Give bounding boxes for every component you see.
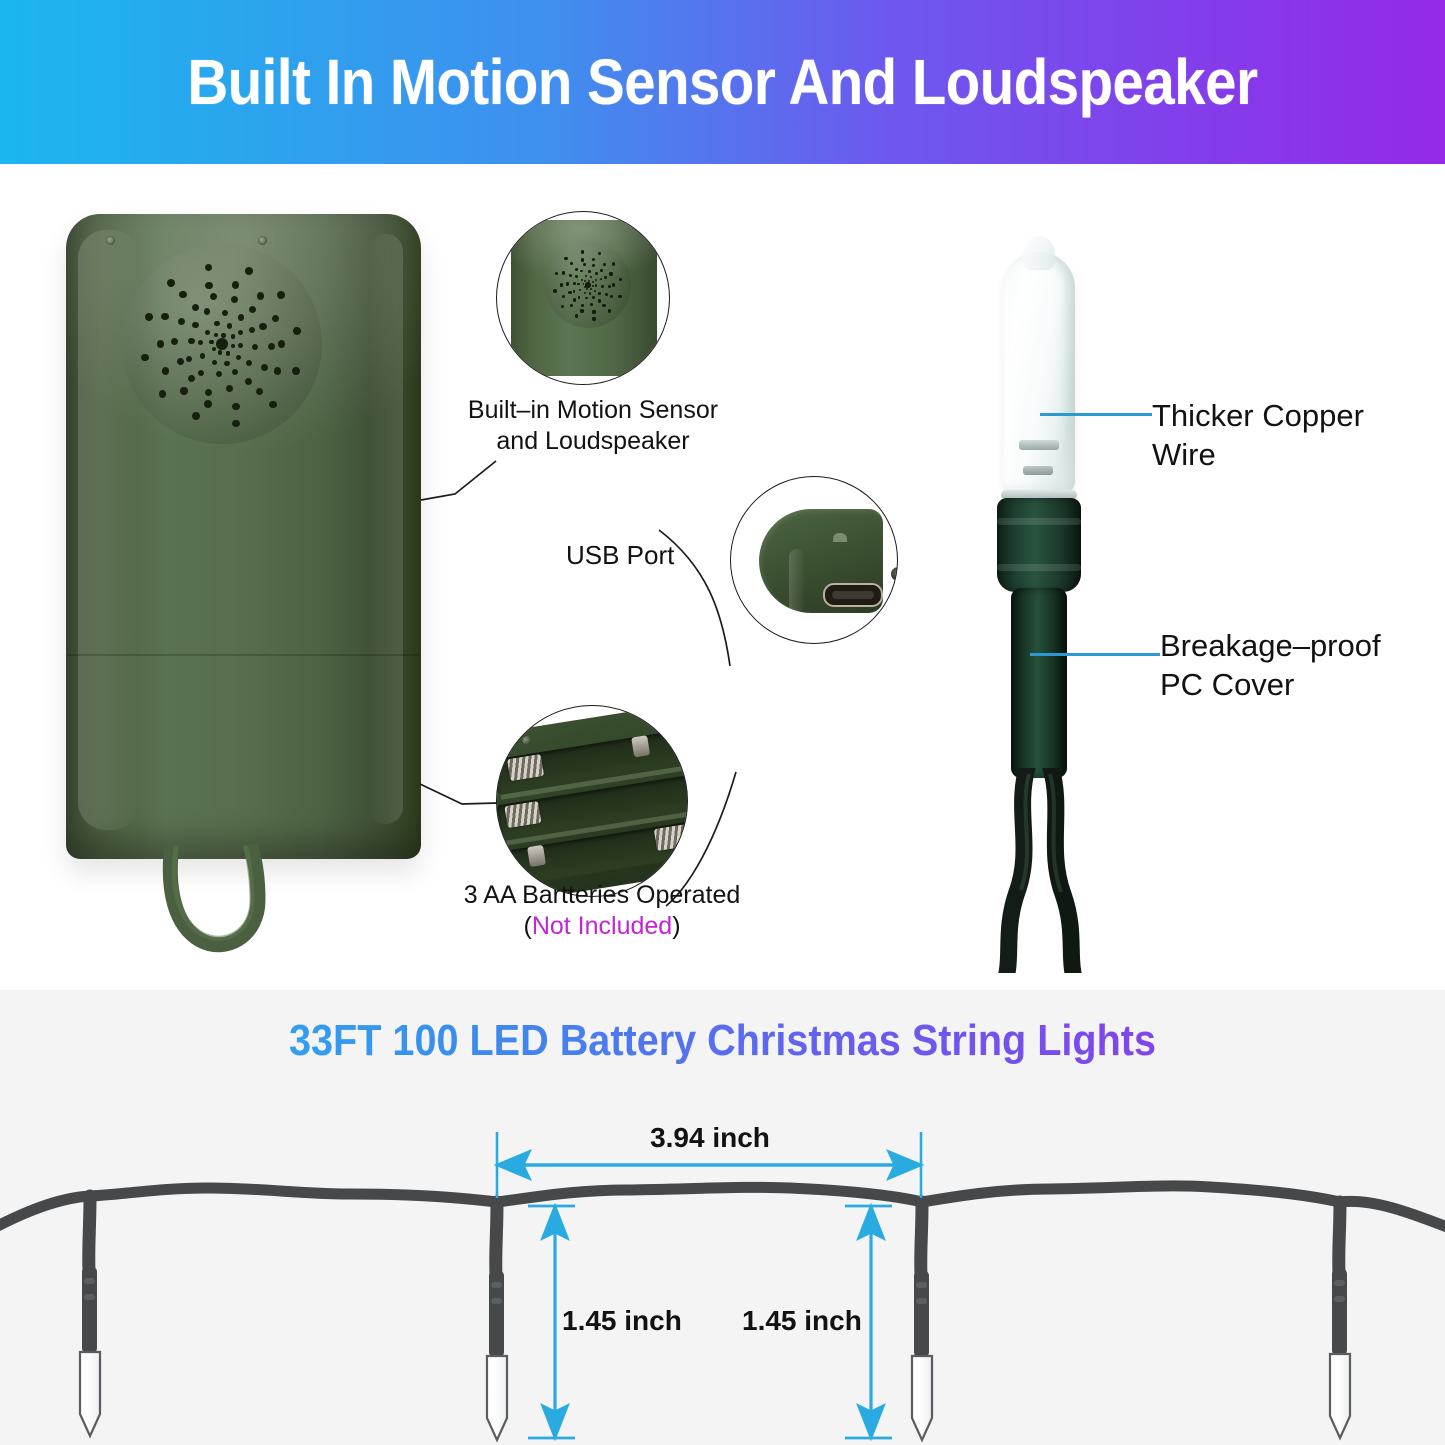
pc-cover-line2: PC Cover [1160,665,1445,704]
grille-hole [570,304,573,307]
grille-hole [238,314,244,320]
grille-hole [245,267,253,275]
grille-hole [177,358,184,365]
grille-hole [238,343,243,348]
speaker-zoom-image [511,220,657,376]
grille-hole [269,401,277,409]
copper-wire-filament [1023,466,1053,475]
battery-pack-body [66,214,421,859]
grille-hole [566,282,569,285]
grille-hole [188,338,194,344]
grille-hole [210,293,217,300]
grille-hole [205,264,213,272]
zoom-bubble-speaker [496,211,670,385]
grille-hole [171,338,178,345]
grille-hole [249,306,256,313]
case-seam [68,654,419,656]
grille-hole [600,269,603,272]
callout-label-copper-wire: Thicker Copper Wire [1152,396,1445,474]
grille-hole [592,285,594,287]
grille-hole [598,252,601,255]
pc-bulb-cover [1003,252,1075,492]
grille-hole [598,299,601,302]
grille-hole [573,282,576,285]
grille-hole [584,286,586,288]
grille-hole [618,295,621,298]
motion-label-line1: Built–in Motion Sensor [428,395,758,426]
grille-hole [581,279,583,281]
grille-hole [178,318,185,325]
callout-label-usb-port: USB Port [566,540,696,572]
grille-hole [595,279,597,281]
grille-hole [619,278,622,281]
copper-wire-line2: Wire [1152,435,1445,474]
paren-close: ) [672,912,680,940]
battery-contact [631,735,650,757]
grille-hole [259,323,266,330]
screw-right [258,236,267,245]
grille-hole [553,289,556,292]
grille-hole [612,283,615,286]
callout-label-motion-sensor: Built–in Motion Sensor and Loudspeaker [428,395,758,456]
grille-hole [585,282,591,288]
battery-label-line1: 3 AA Bartteries Operated [402,880,802,911]
socket-rib [997,564,1081,571]
grille-hole [214,333,218,337]
battery-pack-device [66,214,421,859]
grille-hole [179,291,187,299]
zoom-bubble-usb [730,476,898,644]
grille-hole [605,293,608,296]
grille-hole [186,356,192,362]
grille-hole [592,310,595,313]
highlight-right [369,234,403,824]
grille-hole [573,290,576,293]
dimension-label-drop-right: 1.45 inch [742,1305,862,1337]
battery-spring [654,824,688,851]
grille-hole [274,367,282,375]
grille-hole [277,291,285,299]
grille-hole [592,264,595,267]
grille-hole [268,343,275,350]
grille-hole [568,291,571,294]
grille-hole [610,295,613,298]
grille-hole [192,322,198,328]
grille-hole [261,364,268,371]
grille-hole [204,308,210,314]
grille-hole [227,323,232,328]
grille-hole [584,292,586,294]
led-bulb-closeup [975,232,1095,972]
grille-hole [162,367,170,375]
grille-hole [562,271,565,274]
grille-hole [222,310,228,316]
case-lip [789,549,805,635]
grille-hole [564,257,567,260]
grille-hole [598,292,601,295]
grille-hole [579,289,581,291]
battery-compartment-image [496,705,688,897]
grille-hole [586,288,588,290]
grille-hole [592,317,595,320]
banner-title: Built In Motion Sensor And Loudspeaker [87,0,1359,164]
grille-hole [204,400,212,408]
grille-hole [226,351,230,355]
grille-hole [293,327,301,335]
grille-hole [232,403,240,411]
grille-hole [590,276,592,278]
indicator-led [891,567,898,581]
grille-hole [561,305,564,308]
grille-hole [232,281,240,289]
not-included-highlight: Not Included [532,912,672,940]
grille-hole [216,371,222,377]
grille-hole [180,387,188,395]
leader-line-pc-cover [1030,653,1160,656]
motion-label-line2: and Loudspeaker [428,426,758,457]
socket-stem [1011,588,1067,778]
callout-label-pc-cover: Breakage–proof PC Cover [1160,626,1445,704]
grille-hole [232,369,238,375]
grille-hole [272,315,280,323]
grille-hole [589,292,591,294]
grille-hole [256,388,264,396]
grille-hole [612,262,615,265]
grille-hole [581,258,584,261]
grille-hole [580,309,583,312]
grille-hole [581,250,584,253]
grille-hole [562,295,565,298]
grille-hole [212,347,216,351]
twin-lead-wire [997,768,1083,973]
dimension-label-drop-left: 1.45 inch [562,1305,682,1337]
grille-hole [588,270,591,273]
grille-hole [249,327,255,333]
grille-hole [560,283,563,286]
grille-hole [585,275,587,277]
grille-hole [205,282,213,290]
zoom-bubble-battery [496,705,688,897]
usb-c-port-icon [823,583,883,607]
leader-line-copper-wire [1040,413,1152,416]
grille-hole [209,340,213,344]
grille-hole [161,313,169,321]
grille-hole [198,370,204,376]
grille-hole [232,420,240,428]
grille-hole [580,270,583,273]
grille-hole [236,355,241,360]
grille-hole [575,275,578,278]
grille-hole [205,389,212,396]
grille-hole [608,285,611,288]
grille-hole [221,333,225,337]
hanging-hook [154,844,274,954]
grille-hole [603,263,606,266]
grille-hole [192,412,200,420]
battery-contact [527,845,546,867]
grille-hole [167,279,175,287]
grille-hole [245,378,252,385]
grille-hole [592,258,595,261]
grille-hole [590,303,593,306]
socket-rib [997,518,1081,525]
grille-hole [278,340,286,348]
grille-hole [238,330,243,335]
grille-hole [595,272,598,275]
copper-wire-line1: Thicker Copper [1152,396,1445,435]
grille-hole [224,361,229,366]
grille-hole [595,284,597,286]
grille-hole [573,298,576,301]
header-banner: Built In Motion Sensor And Loudspeaker [0,0,1445,164]
grille-hole [592,296,595,299]
callout-label-batteries: 3 AA Bartteries Operated (Not Included) [402,880,802,941]
grille-hole [575,268,578,271]
grille-hole [214,321,219,326]
grille-hole [590,288,592,290]
paren-open: ( [523,912,531,940]
grille-hole [226,385,233,392]
copper-wire-filament [1019,440,1059,450]
grille-hole [602,304,605,307]
grille-hole [585,297,588,300]
case-nub [833,533,847,542]
grille-hole [159,390,167,398]
grille-hole [601,285,604,288]
grille-hole [575,314,578,317]
grille-hole [231,296,238,303]
grille-hole [157,340,165,348]
battery-label-line2: (Not Included) [402,911,802,942]
grille-hole [231,344,235,348]
grille-hole [252,344,258,350]
screw-hole [522,735,532,745]
product-infographic: Built In Motion Sensor And Loudspeaker [0,0,1445,1445]
grille-hole [192,304,199,311]
grille-hole [141,354,149,362]
grille-hole [218,350,222,354]
usb-end-image [759,509,883,613]
pc-cover-line1: Breakage–proof [1160,626,1445,665]
grille-hole [198,340,203,345]
grille-hole [570,262,573,265]
grille-hole [292,367,300,375]
grille-hole [569,274,572,277]
usb-label-line1: USB Port [566,540,696,572]
dimension-label-spacing: 3.94 inch [560,1122,860,1154]
bulb-socket [997,498,1081,592]
grille-hole [188,375,195,382]
grille-hole [246,360,252,366]
grille-hole [212,360,217,365]
grille-hole [145,313,153,321]
grille-hole [592,281,594,283]
string-light-diagram [0,990,1445,1445]
grille-hole [604,276,607,279]
grille-hole [594,290,596,292]
grille-hole [600,278,603,281]
grille-hole [555,272,558,275]
grille-hole [231,334,235,338]
grille-zoom-circle [545,242,631,328]
grille-hole [581,304,584,307]
grille-hole [216,338,228,350]
grille-hole [205,330,210,335]
bulb-tip [1023,236,1055,270]
grille-hole [608,309,611,312]
screw-left [106,236,115,245]
grille-hole [577,283,579,285]
speaker-grille-icon [122,244,322,444]
grille-hole [200,353,205,358]
grille-hole [583,283,585,285]
grille-hole [583,263,586,266]
grille-hole [257,292,265,300]
grille-hole [578,296,581,299]
grille-hole [609,272,612,275]
